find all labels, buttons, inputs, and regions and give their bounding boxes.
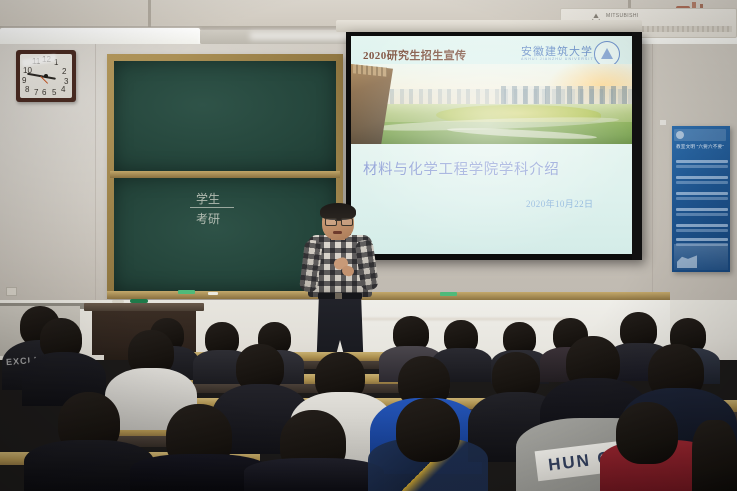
poster-text-line bbox=[676, 192, 728, 195]
poster-text-line bbox=[676, 160, 728, 163]
chalk-piece bbox=[208, 292, 218, 295]
slide-main-title: 材料与化学工程学院学科介绍 bbox=[363, 158, 559, 179]
clock-number: 5 bbox=[52, 88, 56, 97]
poster-text-line bbox=[676, 213, 728, 216]
university-name-english: ANHUI JIANZHU UNIVERSITY bbox=[521, 57, 597, 61]
presenter-belt-buckle bbox=[335, 293, 342, 299]
eyeglasses-icon bbox=[341, 218, 353, 226]
ceiling-pipe bbox=[148, 0, 151, 27]
wall-switch[interactable] bbox=[6, 287, 17, 296]
student-head bbox=[616, 402, 678, 464]
wall-joint bbox=[95, 44, 96, 302]
poster-text-line bbox=[676, 238, 728, 241]
slide-header-title: 2020研究生招生宣传 bbox=[363, 47, 466, 63]
clock-number: 8 bbox=[25, 85, 29, 94]
wall-joint bbox=[652, 44, 653, 302]
campus-photo bbox=[351, 64, 636, 144]
poster-text-line bbox=[676, 176, 728, 179]
student-head bbox=[692, 420, 737, 491]
poster-text-line bbox=[676, 229, 728, 232]
chalk-piece bbox=[178, 290, 195, 294]
chalk-writing: 学生 考研 bbox=[190, 190, 250, 234]
clock-number: 6 bbox=[42, 88, 46, 97]
projected-slide: 2020研究生招生宣传 安徽建筑大学 ANHUI JIANZHU UNIVERS… bbox=[351, 36, 636, 254]
chalk-text-bottom: 考研 bbox=[196, 210, 220, 227]
poster-emblem-icon bbox=[676, 131, 684, 139]
marker-pen bbox=[112, 300, 124, 303]
clock-number: 4 bbox=[61, 85, 65, 94]
poster-text-line bbox=[676, 181, 728, 184]
poster-text-line bbox=[676, 165, 728, 168]
presenter-mouth bbox=[333, 231, 342, 234]
clock-center-pin bbox=[44, 74, 48, 78]
blackboard-divider bbox=[110, 171, 340, 178]
clock-number: 7 bbox=[34, 88, 38, 97]
lectern-top bbox=[84, 303, 204, 311]
student-head bbox=[396, 398, 460, 462]
poster-title: 教室文明 “六要六不要” bbox=[676, 144, 728, 150]
student-body bbox=[244, 458, 384, 491]
chalk-underline bbox=[190, 207, 234, 208]
air-conditioner-brand-label: MITSUBISHI bbox=[606, 13, 639, 19]
wall-notice bbox=[660, 120, 666, 125]
poster-text-line bbox=[676, 224, 728, 227]
poster-text-line bbox=[676, 208, 728, 211]
clock-number: 2 bbox=[62, 67, 66, 76]
board-marker-rail bbox=[340, 292, 670, 300]
slide-date: 2020年10月22日 bbox=[526, 197, 593, 210]
blackboard-upper-panel bbox=[114, 61, 336, 171]
chalk-text-top: 学生 bbox=[196, 190, 220, 207]
poster-text-line bbox=[676, 197, 728, 200]
classroom-rules-poster: 教室文明 “六要六不要” bbox=[672, 126, 730, 272]
eyeglasses-bridge bbox=[335, 220, 341, 221]
projector-screen-housing bbox=[336, 20, 642, 32]
marker-pen bbox=[130, 299, 148, 303]
lecture-hall-photo: MITSUBISHI 12 1 2 3 4 5 6 7 8 9 10 11 学生… bbox=[0, 0, 737, 491]
screen-right-edge bbox=[632, 32, 642, 260]
clock-number: 9 bbox=[22, 76, 26, 85]
chalk-piece bbox=[440, 292, 457, 296]
